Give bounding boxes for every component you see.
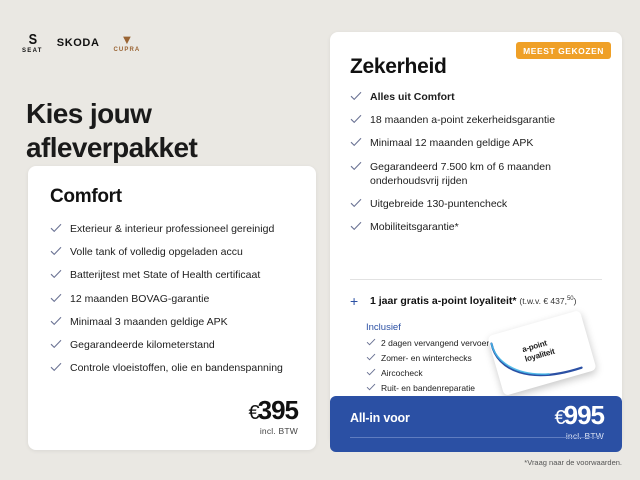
price-amount: 395 [258,395,298,425]
list-item-label: Alles uit Comfort [370,91,455,103]
list-item-label: 2 dagen vervangend vervoer [381,338,489,348]
check-icon [366,353,376,361]
list-item-label: Aircocheck [381,368,423,378]
comfort-feature-list: Exterieur & interieur professioneel gere… [50,222,298,384]
list-item-label: Volle tank of volledig opgeladen accu [70,246,243,258]
check-icon [50,223,62,233]
comfort-title: Comfort [50,186,122,208]
check-icon [350,161,362,171]
skoda-logo-icon: SKODA [57,37,100,49]
list-item: Mobiliteitsgarantie* [350,220,602,234]
check-icon [350,137,362,147]
check-icon [50,269,62,279]
list-item-label: Zomer- en winterchecks [381,353,472,363]
list-item: Minimaal 3 maanden geldige APK [50,315,298,329]
check-icon [366,338,376,346]
check-icon [350,198,362,208]
allin-price: €995 [554,402,604,428]
zekerheid-package-card[interactable]: MEEST GEKOZEN Zekerheid Alles uit Comfor… [330,32,622,444]
list-item-label: Ruit- en bandenreparatie [381,383,475,393]
zekerheid-title: Zekerheid [350,55,447,79]
loyalty-value-end: ) [574,296,577,306]
list-item-label: Controle vloeistoffen, olie en bandenspa… [70,362,283,374]
list-item-label: Gegarandeerde kilometerstand [70,339,215,351]
seat-mark: S [29,32,37,47]
seat-logo-icon: S SEAT [22,32,43,54]
cupra-mark: ▼ [120,33,133,46]
price-amount: 995 [564,400,604,430]
allin-price-block: €995 incl. BTW [554,402,604,441]
plus-icon: + [350,294,358,308]
cupra-wordmark: CUPRA [114,47,141,53]
loyalty-value-main: (t.w.v. € 437, [519,296,567,306]
promo-page: S SEAT SKODA ▼ CUPRA Kies jouw afleverpa… [0,0,640,480]
check-icon [50,339,62,349]
check-icon [50,362,62,372]
page-title: Kies jouw afleverpakket [26,97,306,165]
check-icon [350,114,362,124]
loyalty-bonus-label: 1 jaar gratis a-point loyaliteit* [370,295,516,307]
loyalty-value-cents: 50 [567,296,574,302]
list-item: 18 maanden a-point zekerheidsgarantie [350,113,602,127]
brand-logo-bar: S SEAT SKODA ▼ CUPRA [22,32,140,54]
list-item-label: Minimaal 12 maanden geldige APK [370,137,533,149]
list-item: Alles uit Comfort [350,90,602,104]
section-divider [350,279,602,280]
check-icon [350,91,362,101]
cupra-logo-icon: ▼ CUPRA [114,33,141,53]
list-item: Controle vloeistoffen, olie en bandenspa… [50,361,298,375]
status-badge: MEEST GEKOZEN [516,42,611,59]
allin-label: All-in voor [350,411,410,425]
check-icon [50,316,62,326]
check-icon [50,293,62,303]
comfort-price-note: incl. BTW [248,426,298,436]
check-icon [366,368,376,376]
list-item: Exterieur & interieur professioneel gere… [50,222,298,236]
allin-price-footer[interactable]: All-in voor €995 incl. BTW [330,396,622,452]
list-item: Batterijtest met State of Health certifi… [50,268,298,282]
list-item-label: Gegarandeerd 7.500 km of 6 maanden onder… [370,161,551,187]
list-item-label: 18 maanden a-point zekerheidsgarantie [370,114,555,126]
list-item-label: 12 maanden BOVAG-garantie [70,293,209,305]
loyalty-bonus-value: (t.w.v. € 437,50) [519,296,576,306]
check-icon [50,246,62,256]
allin-price-note: incl. BTW [554,431,604,441]
list-item-label: Minimaal 3 maanden geldige APK [70,316,228,328]
list-item-label: Batterijtest met State of Health certifi… [70,269,260,281]
comfort-package-card[interactable]: Comfort Exterieur & interieur profession… [28,166,316,450]
seat-wordmark: SEAT [22,48,43,54]
comfort-price: €395 [248,397,298,423]
list-item-label: Mobiliteitsgarantie* [370,221,459,233]
check-icon [350,221,362,231]
list-item: Uitgebreide 130-puntencheck [350,197,602,211]
list-item: Minimaal 12 maanden geldige APK [350,136,602,150]
check-icon [366,383,376,391]
zekerheid-feature-list: Alles uit Comfort 18 maanden a-point zek… [350,90,602,243]
list-item-label: Uitgebreide 130-puntencheck [370,198,507,210]
footnote: *Vraag naar de voorwaarden. [524,458,622,467]
list-item: 12 maanden BOVAG-garantie [50,292,298,306]
list-item-label: Exterieur & interieur professioneel gere… [70,223,274,235]
list-item: Volle tank of volledig opgeladen accu [50,245,298,259]
list-item: Gegarandeerde kilometerstand [50,338,298,352]
loyalty-bonus-row: + 1 jaar gratis a-point loyaliteit* (t.w… [350,295,622,307]
list-item: Gegarandeerd 7.500 km of 6 maanden onder… [350,160,602,188]
comfort-price-block: €395 incl. BTW [248,397,298,436]
footer-rule [350,437,602,438]
